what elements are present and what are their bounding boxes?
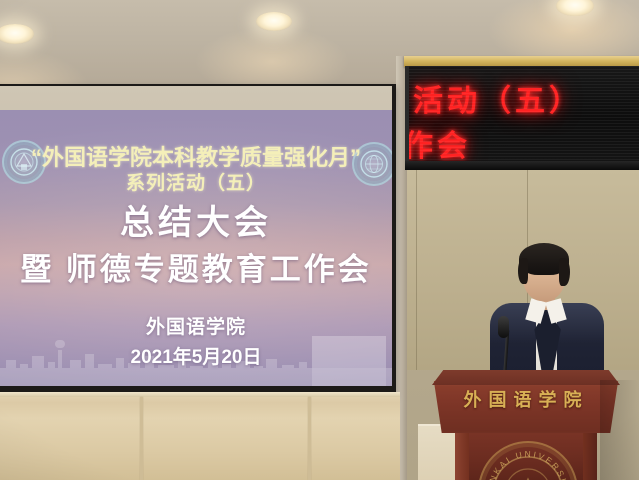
slide-organization: 外国语学院: [0, 312, 392, 339]
wainscot-seam: [140, 397, 143, 480]
podium-name-plate: 外国语学院: [428, 386, 624, 412]
wainscot-cap-rail: [0, 392, 400, 397]
presentation-photo-scene: 活动（五） 作会: [0, 0, 639, 480]
led-banner-board: 活动（五） 作会: [405, 66, 639, 169]
projection-screen: “外国语学院本科教学质量强化月” 系列活动（五） 总结大会 暨 师德专题教育工作…: [0, 86, 392, 386]
slide-date: 2021年5月20日: [0, 342, 392, 369]
podium-edge-left: [455, 430, 469, 480]
slide-main-line-2: 暨 师德专题教育工作会: [0, 244, 392, 289]
wainscot-seam: [308, 397, 311, 480]
panel-seam: [416, 170, 417, 370]
hair-side-left: [518, 258, 528, 284]
podium-edge-right: [583, 430, 597, 480]
recessed-downlight-icon: [256, 12, 292, 31]
wood-wainscot: [0, 392, 400, 480]
podium-shadow: [600, 380, 639, 480]
led-banner-line-1: 活动（五）: [413, 76, 639, 120]
presentation-slide: “外国语学院本科教学质量强化月” 系列活动（五） 总结大会 暨 师德专题教育工作…: [0, 110, 392, 386]
hair-side-right: [559, 258, 570, 286]
slide-title-line-2: 系列活动（五）: [0, 168, 392, 195]
slide-main-line-1: 总结大会: [0, 195, 392, 244]
microphone-icon: [498, 316, 509, 338]
led-board-bottom-edge: [405, 161, 639, 170]
led-banner-line-2: 作会: [405, 121, 639, 165]
podium-desktop: [432, 370, 620, 385]
